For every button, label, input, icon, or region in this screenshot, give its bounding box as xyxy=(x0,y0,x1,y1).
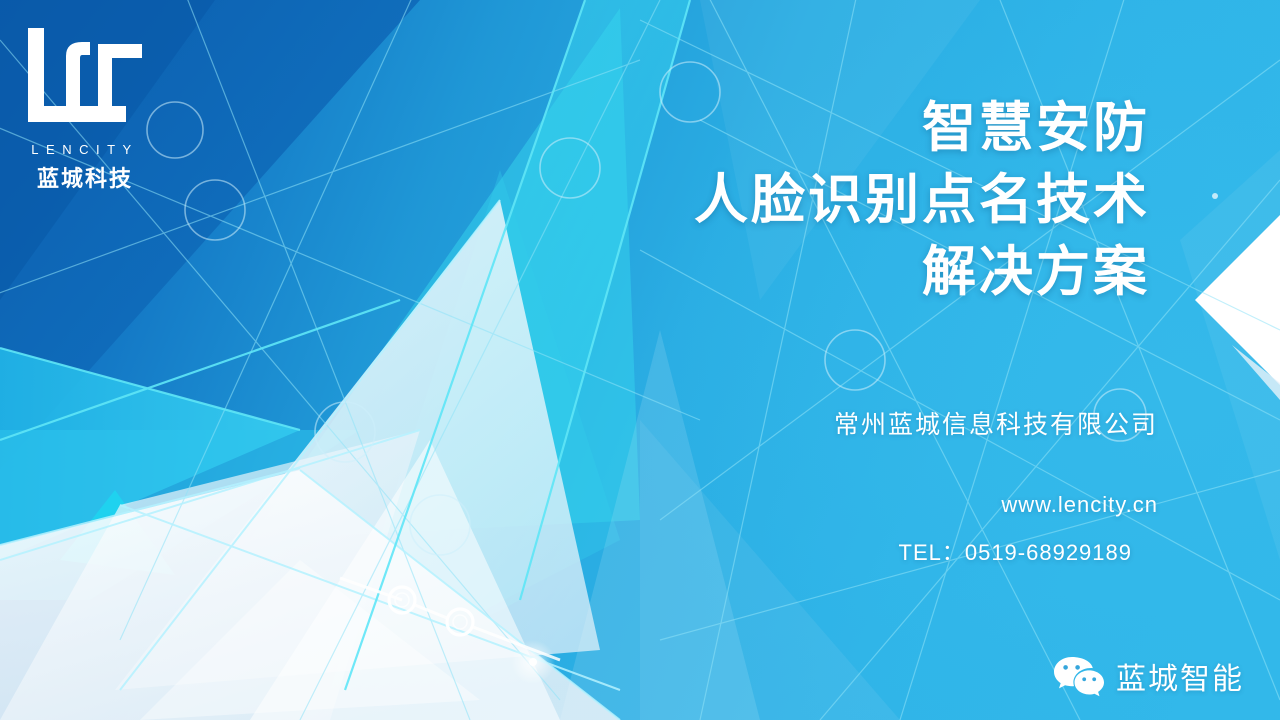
bg-sparkle-core xyxy=(529,658,537,666)
wechat-account-badge[interactable]: 蓝城智能 xyxy=(1053,654,1244,698)
logo-wordmark: LENCITY xyxy=(22,142,148,157)
slide-title: 智慧安防 人脸识别点名技术 解决方案 xyxy=(694,92,1150,308)
title-line-3: 解决方案 xyxy=(694,236,1150,308)
wechat-icon xyxy=(1053,654,1105,698)
company-website[interactable]: www.lencity.cn xyxy=(834,490,1158,520)
contact-block: 常州蓝城信息科技有限公司 www.lencity.cn TEL：0519-689… xyxy=(834,408,1158,568)
company-logo: LENCITY 蓝城科技 xyxy=(22,22,148,193)
company-telephone: TEL：0519-68929189 xyxy=(834,538,1132,568)
company-name: 常州蓝城信息科技有限公司 xyxy=(834,408,1158,442)
lencity-monogram-icon xyxy=(22,22,148,134)
bg-sparkle-2 xyxy=(1212,193,1218,199)
title-line-1: 智慧安防 xyxy=(694,92,1150,164)
wechat-account-name: 蓝城智能 xyxy=(1116,654,1244,698)
logo-wordmark-cn: 蓝城科技 xyxy=(22,161,148,193)
title-line-2: 人脸识别点名技术 xyxy=(694,164,1150,236)
presentation-title-slide: LENCITY 蓝城科技 智慧安防 人脸识别点名技术 解决方案 常州蓝城信息科技… xyxy=(0,0,1280,720)
